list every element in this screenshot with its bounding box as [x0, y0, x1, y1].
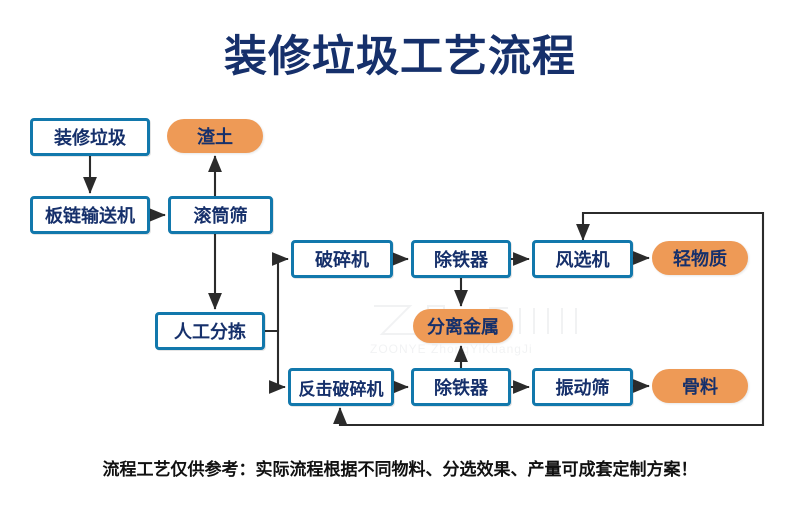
node-light-material[interactable]: 轻物质 — [652, 241, 748, 275]
node-aggregate[interactable]: 骨料 — [652, 369, 748, 403]
node-separated-metal[interactable]: 分离金属 — [413, 309, 513, 343]
node-slag[interactable]: 渣土 — [167, 119, 263, 153]
flowchart-canvas: 装修垃圾工艺流程 ZOONYE ZhongYiKuangJi — [0, 0, 800, 512]
node-air-separator[interactable]: 风选机 — [532, 240, 633, 278]
node-aggregate-label: 骨料 — [682, 373, 718, 399]
node-drum-screen[interactable]: 滚筒筛 — [168, 196, 273, 234]
node-vibrating-screen-label: 振动筛 — [556, 374, 610, 400]
node-iron-remover-bottom[interactable]: 除铁器 — [411, 368, 511, 406]
node-light-material-label: 轻物质 — [673, 245, 727, 271]
node-conveyor[interactable]: 板链输送机 — [30, 196, 150, 234]
node-air-separator-label: 风选机 — [556, 246, 610, 272]
node-iron-remover-top-label: 除铁器 — [434, 246, 488, 272]
footer-note: 流程工艺仅供参考：实际流程根据不同物料、分选效果、产量可成套定制方案！ — [0, 455, 800, 480]
node-iron-remover-top[interactable]: 除铁器 — [411, 240, 511, 278]
node-slag-label: 渣土 — [197, 123, 233, 149]
node-conveyor-label: 板链输送机 — [45, 202, 135, 228]
node-iron-remover-bottom-label: 除铁器 — [434, 374, 488, 400]
node-waste-label: 装修垃圾 — [54, 124, 126, 150]
node-manual-sorting[interactable]: 人工分拣 — [155, 312, 265, 350]
node-vibrating-screen[interactable]: 振动筛 — [532, 368, 633, 406]
node-crusher[interactable]: 破碎机 — [291, 240, 393, 278]
node-crusher-label: 破碎机 — [315, 246, 369, 272]
node-impact-crusher-label: 反击破碎机 — [299, 375, 384, 400]
edge-manual-to-impact — [265, 331, 285, 387]
edge-return-bottom-to-impact — [340, 403, 763, 425]
edge-manual-to-crusher — [265, 259, 288, 331]
node-separated-metal-label: 分离金属 — [427, 313, 499, 339]
node-impact-crusher[interactable]: 反击破碎机 — [288, 368, 394, 406]
node-drum-screen-label: 滚筒筛 — [194, 202, 248, 228]
node-manual-sorting-label: 人工分拣 — [174, 318, 246, 344]
node-waste[interactable]: 装修垃圾 — [30, 118, 150, 156]
